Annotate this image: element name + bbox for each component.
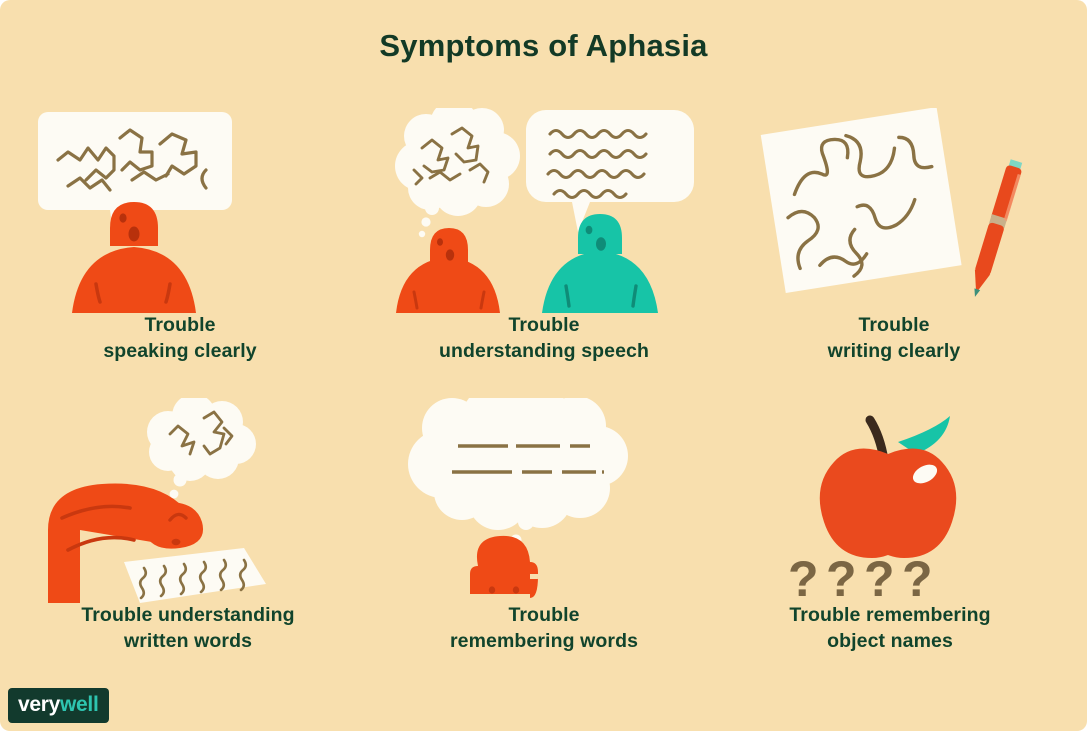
question-mark-3: ? <box>864 551 895 603</box>
panel-remembering-object-names: ? ? ? ? Trouble remembering object names <box>720 398 1060 655</box>
panel-caption: Trouble understanding written words <box>18 603 358 655</box>
caption-line-2: remembering words <box>374 629 714 655</box>
apple-body-shape <box>820 449 956 558</box>
caption-line-1: Trouble <box>374 603 714 629</box>
illustration-head-with-blank-lines-thought-cloud <box>374 398 714 603</box>
illustration-two-people-thought-and-speech-bubbles <box>374 108 714 313</box>
illustration-person-reading-paper-with-thought-bubble <box>18 398 358 603</box>
page-title: Symptoms of Aphasia <box>0 28 1087 64</box>
panel-understanding-speech: Trouble understanding speech <box>374 108 714 365</box>
logo-text-well: well <box>60 693 98 716</box>
illustration-apple-with-question-marks: ? ? ? ? <box>720 398 1060 603</box>
panel-caption: Trouble speaking clearly <box>10 313 350 365</box>
illustration-person-with-scribbled-speech-bubble <box>10 108 350 313</box>
question-marks-group: ? ? ? ? <box>788 551 933 603</box>
panel-caption: Trouble writing clearly <box>724 313 1064 365</box>
panel-caption: Trouble remembering words <box>374 603 714 655</box>
thought-cloud-shape <box>395 108 520 237</box>
panel-caption: Trouble remembering object names <box>720 603 1060 655</box>
caption-line-1: Trouble <box>374 313 714 339</box>
person-figure-orange <box>72 202 196 313</box>
question-mark-4: ? <box>902 551 933 603</box>
illustration-paper-with-scribbles-and-pen <box>724 108 1064 313</box>
person-figure-teal <box>542 214 658 313</box>
panel-caption: Trouble understanding speech <box>374 313 714 365</box>
caption-line-2: written words <box>18 629 358 655</box>
panel-remembering-words: Trouble remembering words <box>374 398 714 655</box>
logo-text-very: very <box>18 693 60 716</box>
caption-line-1: Trouble <box>10 313 350 339</box>
caption-line-2: understanding speech <box>374 339 714 365</box>
caption-line-1: Trouble remembering <box>720 603 1060 629</box>
caption-line-2: object names <box>720 629 1060 655</box>
person-figure-orange <box>396 228 500 313</box>
pen-icon <box>967 159 1024 300</box>
question-mark-2: ? <box>826 551 857 603</box>
thought-cloud-shape <box>147 398 256 509</box>
paper-sheet-with-wavy-text <box>124 548 266 603</box>
infographic-canvas: Symptoms of Aphasia <box>0 0 1087 731</box>
caption-line-2: writing clearly <box>724 339 1064 365</box>
question-mark-1: ? <box>788 551 819 603</box>
panel-speaking-clearly: Trouble speaking clearly <box>10 108 350 365</box>
panel-understanding-written-words: Trouble understanding written words <box>18 398 358 655</box>
caption-line-1: Trouble <box>724 313 1064 339</box>
panel-writing-clearly: Trouble writing clearly <box>724 108 1064 365</box>
apple-leaf-shape <box>898 416 950 454</box>
caption-line-1: Trouble understanding <box>18 603 358 629</box>
caption-line-2: speaking clearly <box>10 339 350 365</box>
verywell-logo[interactable]: verywell <box>8 688 109 723</box>
small-head-orange <box>470 536 538 603</box>
